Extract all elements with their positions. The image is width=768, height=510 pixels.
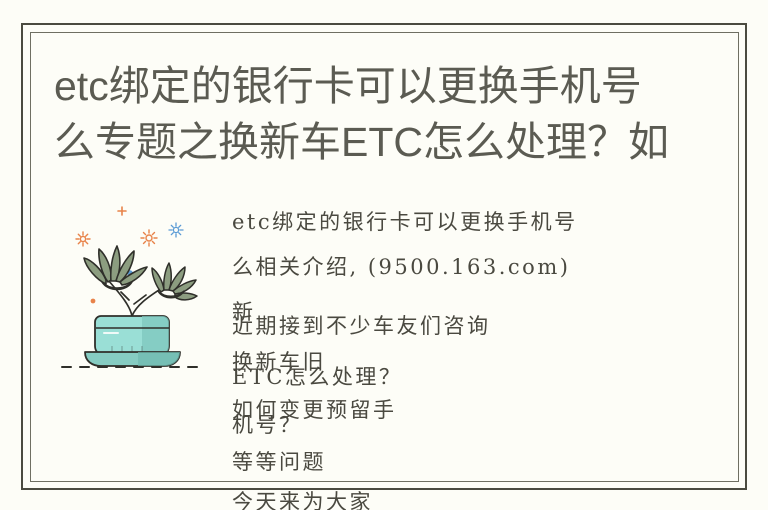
succulent-right <box>152 263 197 300</box>
potted-plant-illustration <box>42 196 222 376</box>
body-line: etc绑定的银行卡可以更换手机号 <box>232 206 578 236</box>
body-line: 机号？ <box>232 409 303 439</box>
body-line: 么相关介绍, (9500.163.com) <box>232 251 570 281</box>
body-line: 近期接到不少车友们咨询 <box>232 310 491 340</box>
page-title-line-2: 么专题之换新车ETC怎么处理？如 <box>54 114 714 170</box>
plant-pot <box>95 316 169 356</box>
page-title: etc绑定的银行卡可以更换手机号 么专题之换新车ETC怎么处理？如 <box>54 58 714 170</box>
succulent-left <box>84 246 147 290</box>
pot-saucer <box>85 352 180 366</box>
page-title-line-1: etc绑定的银行卡可以更换手机号 <box>54 58 714 114</box>
body-line: ETC怎么处理？ <box>232 361 402 391</box>
plant-stems <box>108 280 162 316</box>
body-line: 今天来为大家 <box>232 486 373 510</box>
article-cover-page: etc绑定的银行卡可以更换手机号 么专题之换新车ETC怎么处理？如 <box>0 0 768 510</box>
body-line: 等等问题 <box>232 446 326 476</box>
